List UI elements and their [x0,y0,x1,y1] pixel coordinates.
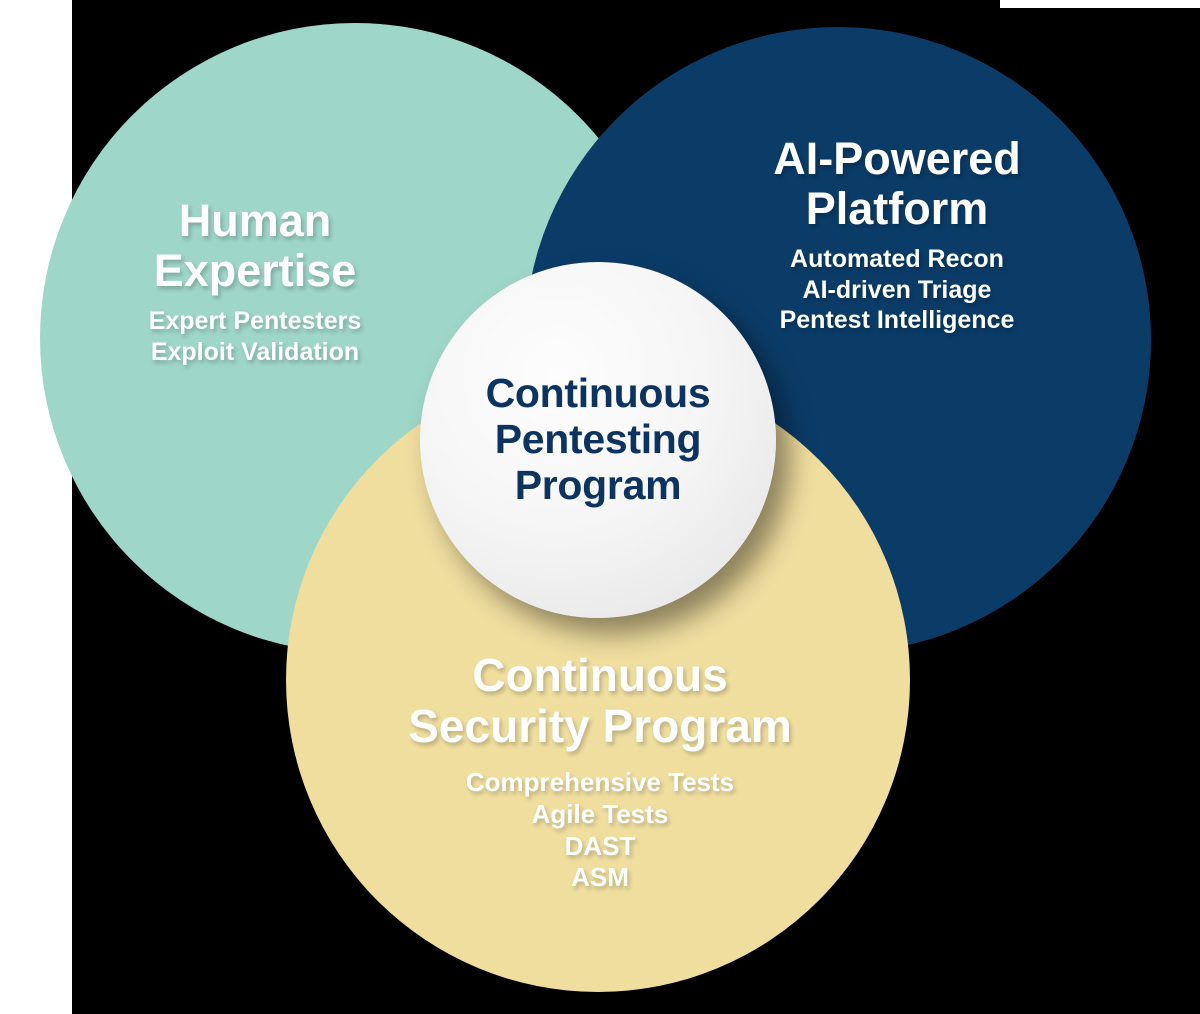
heading-human-expertise: Human Expertise [96,196,414,295]
items-continuous-security-program: Comprehensive Tests Agile Tests DAST ASM [350,767,850,894]
venn-center-circle[interactable]: Continuous Pentesting Program [420,262,776,618]
venn-diagram-stage: Human Expertise Expert Pentesters Exploi… [0,0,1200,1014]
items-ai-powered-platform: Automated Recon AI-driven Triage Pentest… [716,244,1078,336]
canvas-background-top [72,0,1000,8]
heading-continuous-security-program: Continuous Security Program [350,650,850,751]
center-circle-label: Continuous Pentesting Program [420,371,776,509]
items-human-expertise: Expert Pentesters Exploit Validation [96,306,414,367]
label-ai-powered-platform: AI-Powered Platform Automated Recon AI-d… [716,134,1078,336]
heading-ai-powered-platform: AI-Powered Platform [716,134,1078,233]
label-continuous-security-program: Continuous Security Program Comprehensiv… [350,650,850,894]
label-human-expertise: Human Expertise Expert Pentesters Exploi… [96,196,414,367]
